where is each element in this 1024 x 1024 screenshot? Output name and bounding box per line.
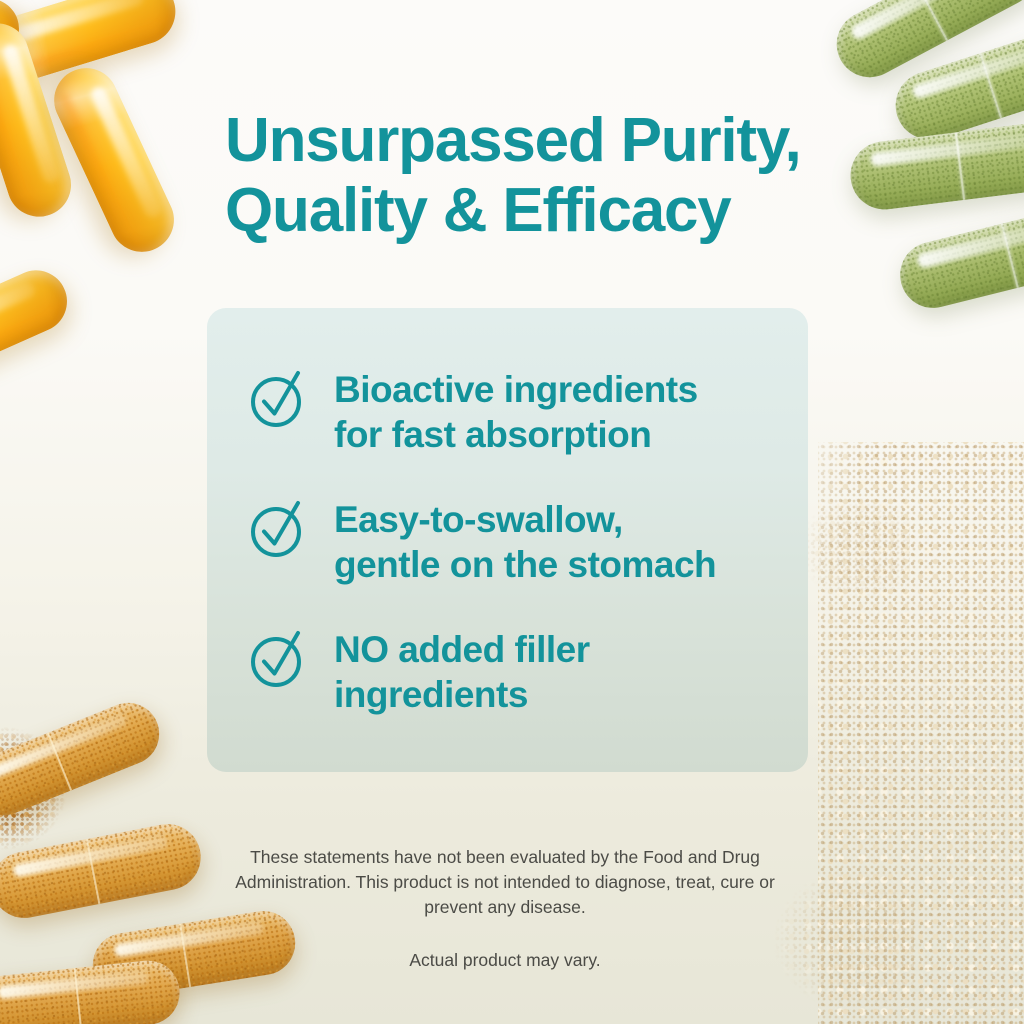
benefit-label: Bioactive ingredients for fast absorptio… xyxy=(334,366,698,457)
benefits-card: Bioactive ingredients for fast absorptio… xyxy=(207,308,808,772)
benefit-item: Easy-to-swallow, gentle on the stomach xyxy=(248,496,716,587)
turmeric-capsule xyxy=(0,694,168,825)
green-capsule xyxy=(825,0,1024,89)
check-circle-icon xyxy=(248,498,310,560)
softgel-capsule xyxy=(0,15,79,225)
page-title: Unsurpassed Purity, Quality & Efficacy xyxy=(225,106,825,246)
protein-powder-pile xyxy=(812,432,1024,1024)
green-capsule xyxy=(893,199,1024,315)
headline-line-1: Unsurpassed Purity, xyxy=(225,106,801,175)
benefit-label: NO added filler ingredients xyxy=(334,626,590,717)
benefit-label: Easy-to-swallow, gentle on the stomach xyxy=(334,496,716,587)
fda-disclaimer-text: These statements have not been evaluated… xyxy=(235,847,775,917)
softgel-capsule xyxy=(0,0,31,110)
check-circle-icon xyxy=(248,628,310,690)
turmeric-capsule xyxy=(0,818,206,923)
softgel-capsule xyxy=(44,58,185,263)
product-variation-note: Actual product may vary. xyxy=(205,948,805,973)
softgel-capsule xyxy=(0,0,184,88)
top-right-green-capsule-cluster xyxy=(800,0,1024,326)
top-left-softgel-cluster xyxy=(0,0,230,410)
benefit-item: Bioactive ingredients for fast absorptio… xyxy=(248,366,698,457)
softgel-capsule xyxy=(0,260,77,389)
product-benefits-poster: Unsurpassed Purity, Quality & Efficacy B… xyxy=(0,0,1024,1024)
green-capsule xyxy=(847,119,1024,214)
benefit-item: NO added filler ingredients xyxy=(248,626,590,717)
headline-line-2: Quality & Efficacy xyxy=(225,176,825,246)
green-capsule xyxy=(887,16,1024,149)
turmeric-capsule xyxy=(0,957,183,1024)
check-circle-icon xyxy=(248,368,310,430)
disclaimer-block: These statements have not been evaluated… xyxy=(205,845,805,973)
